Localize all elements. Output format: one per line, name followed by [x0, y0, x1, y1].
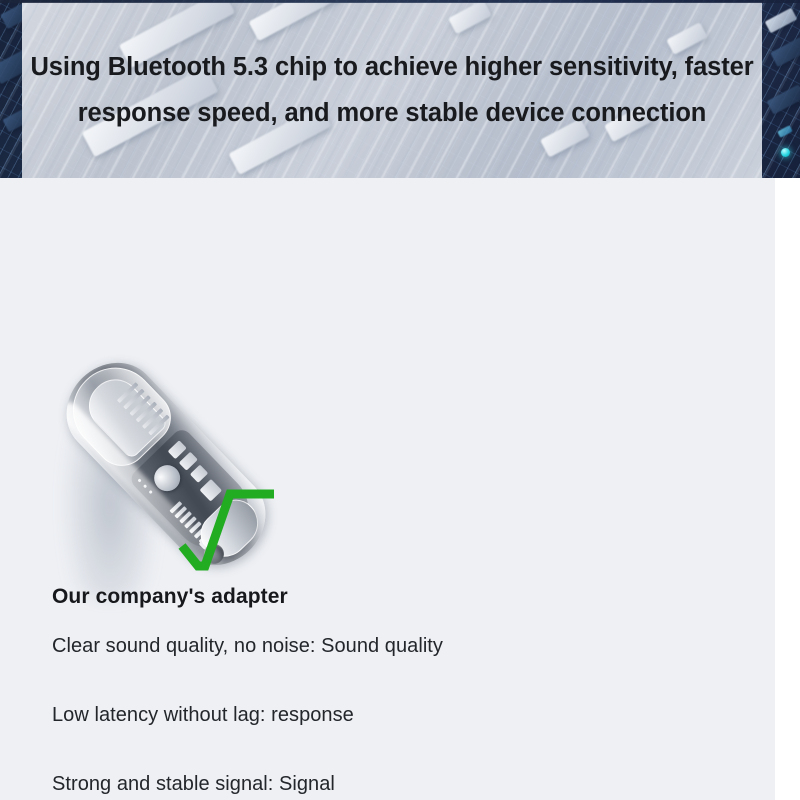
chip-shape: [767, 84, 800, 114]
banner-headline: Using Bluetooth 5.3 chip to achieve high…: [22, 44, 762, 136]
chip-shape: [777, 125, 793, 138]
banner-top-edge: [0, 0, 800, 3]
headline-line-2: response speed, and more stable device c…: [22, 90, 762, 136]
usb-contact-pins: [117, 382, 172, 437]
led-indicator-dot: [781, 148, 790, 157]
content-panel: Our company's adapter Clear sound qualit…: [0, 178, 775, 800]
feature-item: Clear sound quality, no noise: Sound qua…: [52, 634, 732, 658]
chip-shape: [770, 37, 800, 67]
chip-shape: [765, 8, 798, 34]
banner: Using Bluetooth 5.3 chip to achieve high…: [0, 0, 800, 178]
feature-item: Strong and stable signal: Signal: [52, 772, 732, 796]
adapter-heading: Our company's adapter: [52, 585, 288, 609]
headline-line-1: Using Bluetooth 5.3 chip to achieve high…: [30, 53, 753, 81]
product-feature-graphic: Using Bluetooth 5.3 chip to achieve high…: [0, 0, 800, 800]
green-check-mark-icon: [178, 480, 278, 572]
feature-item: Low latency without lag: response: [52, 703, 732, 727]
feature-list: Clear sound quality, no noise: Sound qua…: [52, 634, 732, 800]
